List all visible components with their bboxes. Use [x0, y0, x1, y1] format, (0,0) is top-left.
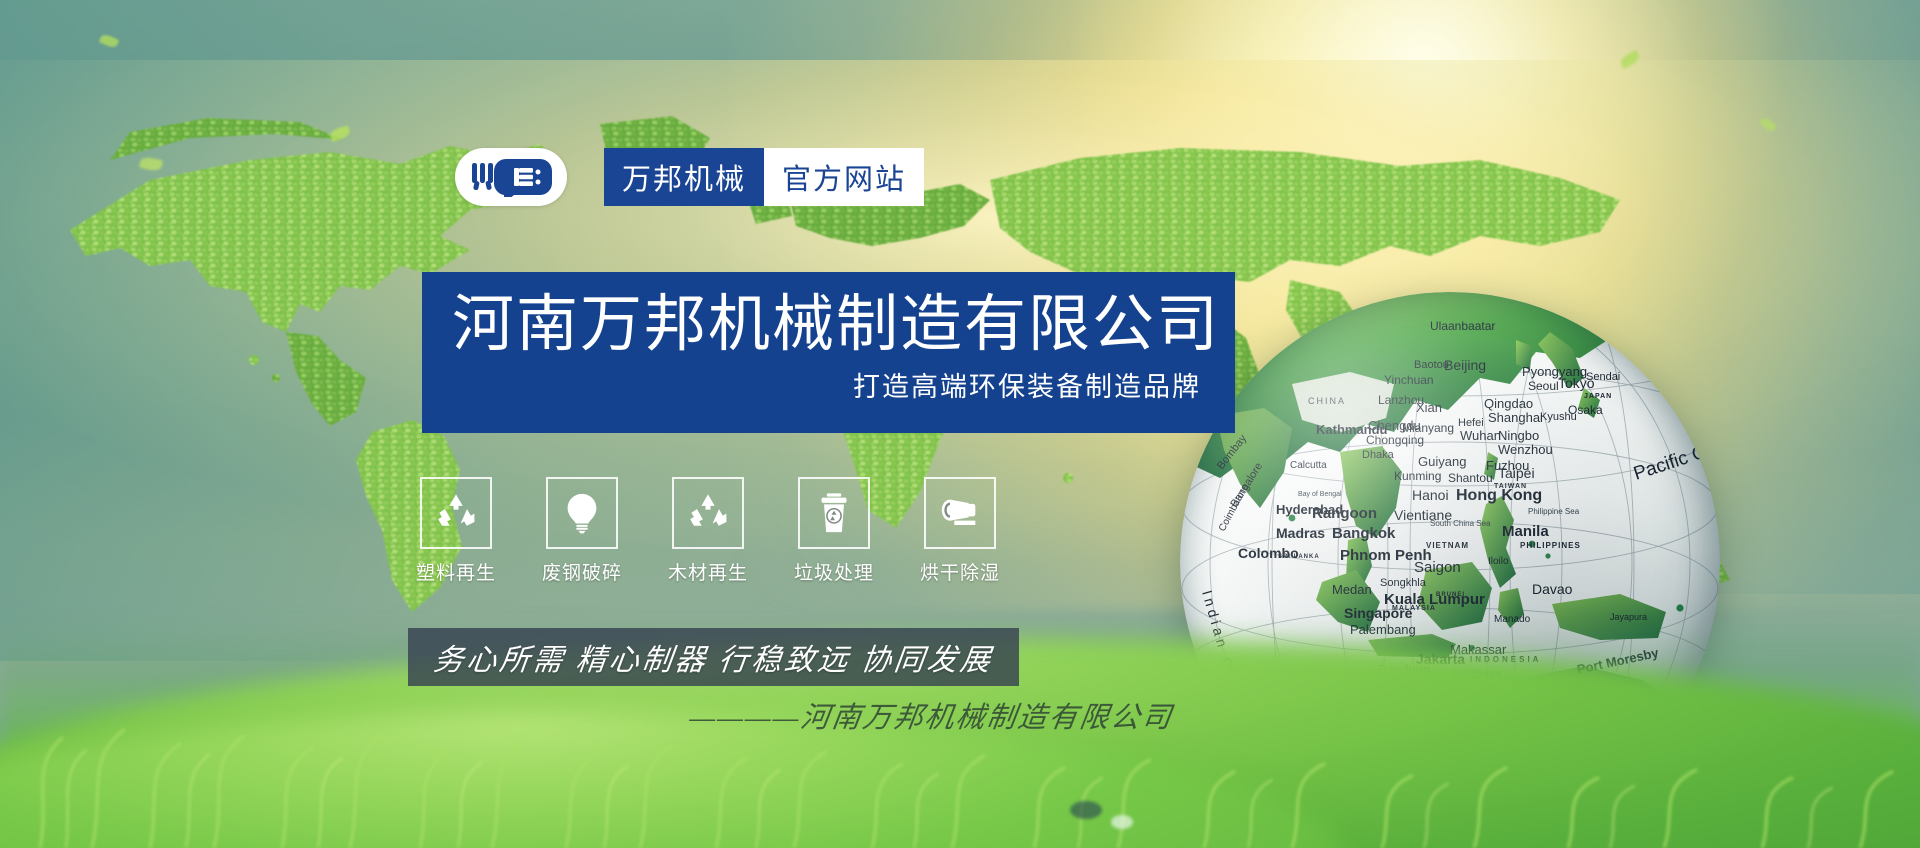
brand-name-tab[interactable]: 万邦机械: [604, 148, 764, 206]
svg-text:Taipei: Taipei: [1498, 465, 1535, 481]
svg-text:Hong Kong: Hong Kong: [1456, 487, 1542, 504]
slogan-signature: ————河南万邦机械制造有限公司: [687, 694, 1176, 736]
svg-text:Shantou: Shantou: [1448, 471, 1493, 485]
service-item-steel-crushing[interactable]: 废钢破碎: [544, 477, 620, 585]
trash-bin-recycle-icon[interactable]: [798, 477, 870, 549]
logo-spacer: [567, 148, 604, 206]
service-item-drying-dehumidify[interactable]: 烘干除湿: [922, 477, 998, 585]
svg-text:Madras: Madras: [1276, 525, 1325, 541]
svg-text:Lanzhou: Lanzhou: [1378, 393, 1424, 407]
svg-text:Wenzhou: Wenzhou: [1498, 442, 1553, 457]
recycle-icon[interactable]: [420, 477, 492, 549]
company-title-block: 河南万邦机械制造有限公司 打造高端环保装备制造品牌: [422, 272, 1235, 433]
site-logo-bar[interactable]: 万邦机械 官方网站: [455, 148, 924, 206]
svg-text:Hanoi: Hanoi: [1412, 487, 1449, 503]
svg-text:Philippine Sea: Philippine Sea: [1528, 507, 1580, 516]
svg-text:Calcutta: Calcutta: [1290, 460, 1327, 471]
svg-text:Vientiane: Vientiane: [1394, 507, 1452, 523]
slogan-text: 务心所需 精心制器 行稳致远 协同发展: [431, 635, 996, 679]
svg-text:Yinchuan: Yinchuan: [1384, 373, 1434, 387]
svg-text:Baotou: Baotou: [1414, 359, 1449, 371]
service-item-wood-recycling[interactable]: 木材再生: [670, 477, 746, 585]
service-item-plastic-recycling[interactable]: 塑料再生: [418, 477, 494, 585]
svg-text:Ulaanbaatar: Ulaanbaatar: [1430, 319, 1495, 333]
service-item-waste-treatment[interactable]: 垃圾处理: [796, 477, 872, 585]
svg-text:CHINA: CHINA: [1308, 396, 1346, 406]
svg-text:Hyderabad: Hyderabad: [1276, 502, 1343, 517]
svg-text:JAPAN: JAPAN: [1584, 393, 1612, 400]
svg-text:Ningbo: Ningbo: [1498, 428, 1539, 443]
svg-text:Seoul: Seoul: [1528, 379, 1559, 393]
svg-text:Wuhan: Wuhan: [1460, 428, 1501, 443]
svg-text:Mianyang: Mianyang: [1402, 421, 1454, 435]
svg-text:Shanghai: Shanghai: [1488, 410, 1543, 425]
service-label: 废钢破碎: [542, 558, 622, 585]
svg-text:Hefei: Hefei: [1458, 417, 1484, 429]
service-label: 木材再生: [668, 558, 748, 585]
service-label: 烘干除湿: [920, 558, 1000, 585]
slogan-banner: 务心所需 精心制器 行稳致远 协同发展: [408, 628, 1019, 686]
svg-text:Beijing: Beijing: [1444, 357, 1486, 373]
svg-text:Kunming: Kunming: [1394, 469, 1441, 483]
blower-dryer-icon[interactable]: [924, 477, 996, 549]
lightbulb-icon[interactable]: [546, 477, 618, 549]
svg-text:Manila: Manila: [1502, 523, 1549, 540]
wb-chat-logo-icon[interactable]: [455, 148, 567, 206]
service-label: 垃圾处理: [794, 558, 874, 585]
svg-text:Sendai: Sendai: [1586, 371, 1620, 383]
service-label: 塑料再生: [416, 558, 496, 585]
svg-text:Qingdao: Qingdao: [1484, 396, 1533, 411]
company-name: 河南万邦机械制造有限公司: [452, 288, 1201, 361]
recycle-icon[interactable]: [672, 477, 744, 549]
svg-text:Kyushu: Kyushu: [1540, 411, 1577, 423]
svg-text:Guiyang: Guiyang: [1418, 454, 1466, 469]
official-site-tab[interactable]: 官方网站: [764, 148, 924, 206]
svg-text:Kathmandu: Kathmandu: [1316, 422, 1388, 437]
hero-banner: Pacific Ocean Indian Ocean South China S…: [0, 0, 1920, 848]
svg-text:Bangkok: Bangkok: [1332, 525, 1396, 542]
svg-text:Bay of Bengal: Bay of Bengal: [1298, 491, 1342, 498]
svg-text:Dhaka: Dhaka: [1362, 449, 1395, 461]
service-icon-row[interactable]: 塑料再生 废钢破碎 木材再生: [418, 477, 998, 585]
company-tagline: 打造高端环保装备制造品牌: [452, 365, 1201, 404]
